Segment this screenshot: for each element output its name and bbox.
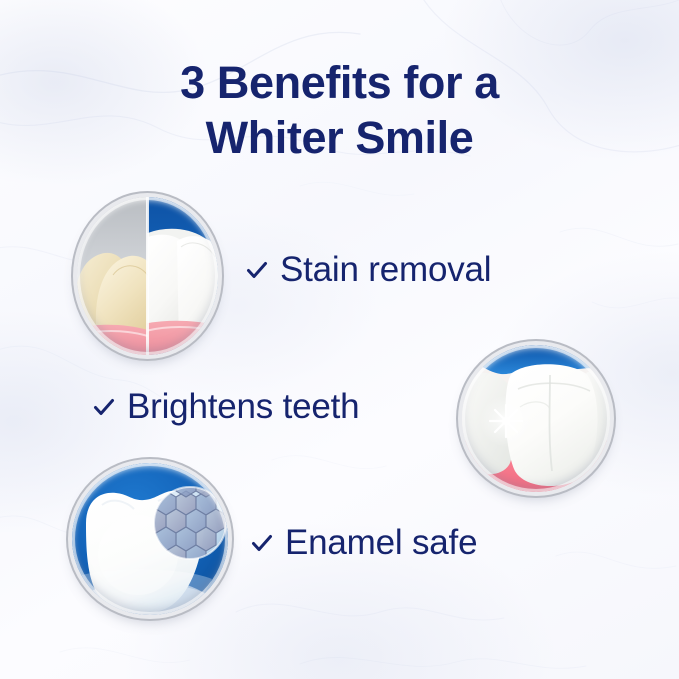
benefit-image-stain-removal: [77, 197, 218, 355]
page-title-line-2: Whiter Smile: [0, 111, 679, 166]
benefit-item-brightens-teeth: Brightens teeth: [92, 387, 359, 427]
benefits-infographic: 3 Benefits for a Whiter Smile: [0, 0, 679, 679]
benefit-image-enamel-safe: [72, 463, 228, 615]
benefit-item-stain-removal: Stain removal: [245, 250, 491, 290]
tooth-sparkle-icon: [462, 345, 610, 492]
benefit-label-text: Brightens teeth: [127, 387, 359, 427]
tooth-before-after-icon: [77, 197, 218, 355]
check-icon: [250, 531, 274, 555]
benefit-item-enamel-safe: Enamel safe: [250, 523, 477, 563]
check-icon: [245, 258, 269, 282]
benefit-image-brightens-teeth: [462, 345, 610, 492]
page-title: 3 Benefits for a Whiter Smile: [0, 56, 679, 166]
check-icon: [92, 395, 116, 419]
page-title-line-1: 3 Benefits for a: [0, 56, 679, 111]
benefit-label-text: Enamel safe: [285, 523, 477, 563]
benefit-label-text: Stain removal: [280, 250, 491, 290]
tooth-enamel-hexagon-icon: [72, 463, 228, 615]
